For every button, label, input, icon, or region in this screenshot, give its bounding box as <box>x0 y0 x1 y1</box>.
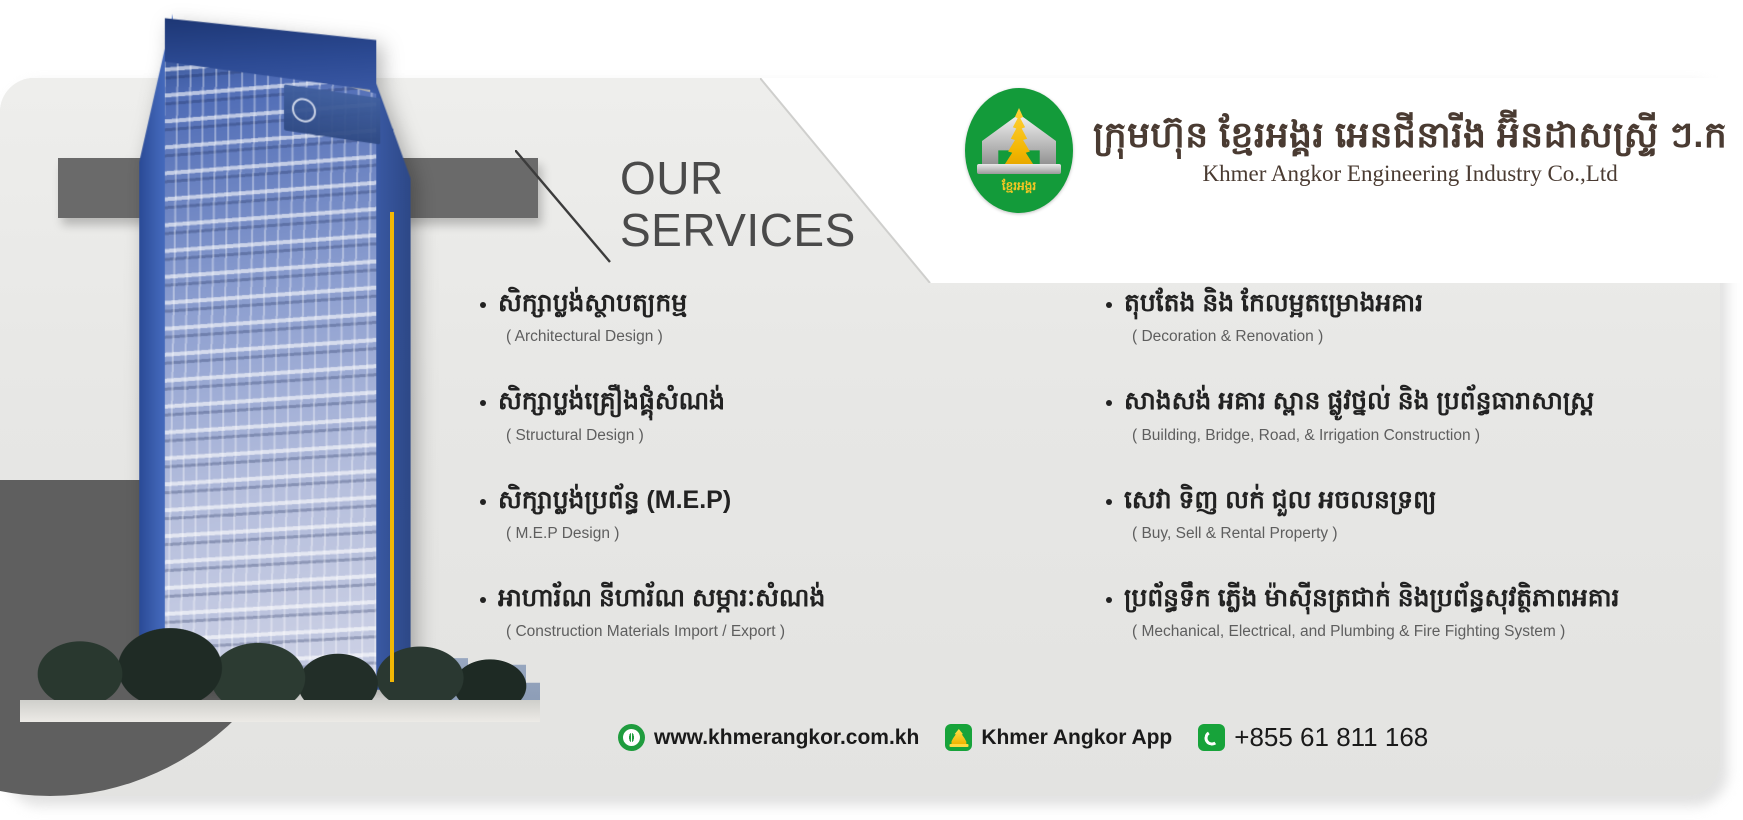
service-item: សិក្សាប្លង់ប្រព័ន្ធ (M.E.P) ( M.E.P Desi… <box>480 485 1040 543</box>
company-name-block: ក្រុមហ៊ុន ខ្មែរអង្គរ អេនជីនារីង អ៊ីនដាសស… <box>1093 115 1727 187</box>
service-subtitle-english: ( Decoration & Renovation ) <box>1132 328 1666 346</box>
bullet-icon <box>1106 597 1112 603</box>
service-title-khmer-wrap: តុបតែង និង កែលម្អតម្រោងអគារ <box>1106 288 1666 319</box>
page-title: OUR SERVICES <box>620 152 856 256</box>
service-title-khmer: ប្រព័ន្ធទឹក ភ្លើង ម៉ាស៊ីនត្រជាក់ និងប្រព… <box>1124 583 1619 614</box>
service-title-khmer-wrap: អាហារ័ណ នីហារ័ណ សម្ភារៈសំណង់ <box>480 583 1040 614</box>
company-logo-icon: ខ្មែរអង្គរ <box>965 88 1073 213</box>
service-subtitle-english: ( Architectural Design ) <box>506 328 1040 346</box>
app-label[interactable]: Khmer Angkor App <box>981 726 1172 750</box>
page-title-line2: SERVICES <box>620 204 856 256</box>
service-subtitle-english: ( Structural Design ) <box>506 427 1040 445</box>
logo-caption: ខ្មែរអង្គរ <box>965 178 1073 196</box>
logo-base-shape <box>977 164 1061 174</box>
building-render <box>20 0 520 800</box>
bullet-icon <box>480 400 486 406</box>
contact-app[interactable]: Khmer Angkor App <box>945 724 1172 751</box>
contact-phone[interactable]: +855 61 811 168 <box>1198 722 1428 753</box>
service-title-khmer-wrap: ប្រព័ន្ធទឹក ភ្លើង ម៉ាស៊ីនត្រជាក់ និងប្រព… <box>1106 583 1666 614</box>
bullet-icon <box>480 302 486 308</box>
service-title-khmer: សិក្សាប្លង់គ្រឿងផ្គុំសំណង់ <box>498 386 725 417</box>
bullet-icon <box>1106 400 1112 406</box>
brand-block: ខ្មែរអង្គរ ក្រុមហ៊ុន ខ្មែរអង្គរ អេនជីនារ… <box>965 88 1727 213</box>
company-name-khmer: ក្រុមហ៊ុន ខ្មែរអង្គរ អេនជីនារីង អ៊ីនដាសស… <box>1093 115 1727 155</box>
heading-diagonal-line <box>515 150 625 270</box>
page-title-line1: OUR <box>620 152 856 204</box>
services-column-right: តុបតែង និង កែលម្អតម្រោងអគារ ( Decoration… <box>1106 288 1666 681</box>
website-label[interactable]: www.khmerangkor.com.kh <box>654 726 919 750</box>
service-title-khmer: សេវា ទិញ លក់ ជួល អចលនទ្រព្យ <box>1124 485 1436 516</box>
service-item: សិក្សាប្លង់ស្ថាបត្យកម្ម ( Architectural … <box>480 288 1040 346</box>
service-item: សាងសង់ អគារ ស្ពាន ផ្លូវថ្នល់ និង ប្រព័ន្… <box>1106 386 1666 444</box>
ground-plane <box>20 700 540 722</box>
services-column-left: សិក្សាប្លង់ស្ថាបត្យកម្ម ( Architectural … <box>480 288 1040 681</box>
bullet-icon <box>1106 499 1112 505</box>
service-title-khmer: អាហារ័ណ នីហារ័ណ សម្ភារៈសំណង់ <box>498 583 825 614</box>
service-title-khmer-wrap: សេវា ទិញ លក់ ជួល អចលនទ្រព្យ <box>1106 485 1666 516</box>
phone-icon <box>1198 724 1225 751</box>
service-title-khmer-wrap: សាងសង់ អគារ ស្ពាន ផ្លូវថ្នល់ និង ប្រព័ន្… <box>1106 386 1666 417</box>
service-subtitle-english: ( Construction Materials Import / Export… <box>506 623 1040 641</box>
services-list: សិក្សាប្លង់ស្ថាបត្យកម្ម ( Architectural … <box>480 288 1680 681</box>
yellow-accent-strip <box>390 212 394 682</box>
service-title-khmer-wrap: សិក្សាប្លង់ប្រព័ន្ធ (M.E.P) <box>480 485 1040 516</box>
phone-label[interactable]: +855 61 811 168 <box>1234 722 1428 753</box>
service-item: អាហារ័ណ នីហារ័ណ សម្ភារៈសំណង់ ( Construct… <box>480 583 1040 641</box>
globe-icon <box>618 724 645 751</box>
service-title-khmer-wrap: សិក្សាប្លង់ស្ថាបត្យកម្ម <box>480 288 1040 319</box>
contact-website[interactable]: www.khmerangkor.com.kh <box>618 724 919 751</box>
service-title-khmer: សាងសង់ អគារ ស្ពាន ផ្លូវថ្នល់ និង ប្រព័ន្… <box>1124 386 1594 417</box>
service-item: សិក្សាប្លង់គ្រឿងផ្គុំសំណង់ ( Structural … <box>480 386 1040 444</box>
bullet-icon <box>480 499 486 505</box>
service-subtitle-english: ( M.E.P Design ) <box>506 525 1040 543</box>
service-item: ប្រព័ន្ធទឹក ភ្លើង ម៉ាស៊ីនត្រជាក់ និងប្រព… <box>1106 583 1666 641</box>
service-title-khmer: សិក្សាប្លង់ស្ថាបត្យកម្ម <box>498 288 687 319</box>
bullet-icon <box>480 597 486 603</box>
service-item: តុបតែង និង កែលម្អតម្រោងអគារ ( Decoration… <box>1106 288 1666 346</box>
high-rise-tower-icon <box>139 6 410 691</box>
service-title-khmer-wrap: សិក្សាប្លង់គ្រឿងផ្គុំសំណង់ <box>480 386 1040 417</box>
service-subtitle-english: ( Building, Bridge, Road, & Irrigation C… <box>1132 427 1666 445</box>
company-name-english: Khmer Angkor Engineering Industry Co.,Lt… <box>1093 161 1727 186</box>
service-subtitle-english: ( Buy, Sell & Rental Property ) <box>1132 525 1666 543</box>
service-title-khmer: តុបតែង និង កែលម្អតម្រោងអគារ <box>1124 288 1423 319</box>
service-item: សេវា ទិញ លក់ ជួល អចលនទ្រព្យ ( Buy, Sell … <box>1106 485 1666 543</box>
contact-bar: www.khmerangkor.com.kh Khmer Angkor App … <box>618 722 1428 753</box>
bullet-icon <box>1106 302 1112 308</box>
app-icon <box>945 724 972 751</box>
service-subtitle-english: ( Mechanical, Electrical, and Plumbing &… <box>1132 623 1666 641</box>
service-title-khmer: សិក្សាប្លង់ប្រព័ន្ធ (M.E.P) <box>498 485 731 516</box>
